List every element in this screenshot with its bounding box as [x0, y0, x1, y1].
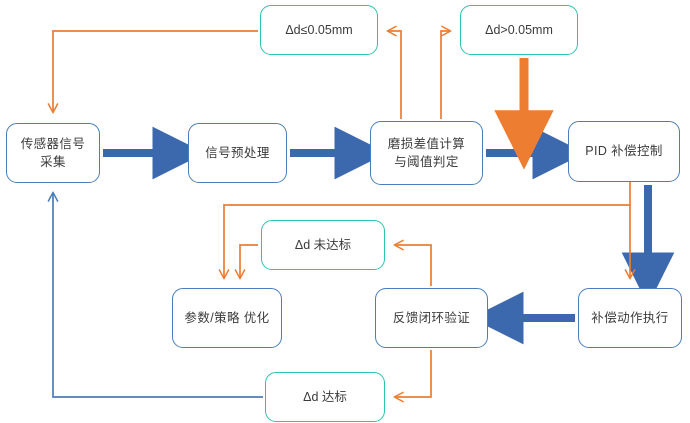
node-signal-preprocessing[interactable]: 信号预处理	[188, 123, 287, 183]
node-sensor-signal-acquisition[interactable]: 传感器信号 采集	[6, 123, 100, 183]
node-condition-delta-gt-005[interactable]: Δd>0.05mm	[460, 5, 578, 55]
flowchart-canvas: 传感器信号 采集 信号预处理 磨损差值计算 与阈值判定 PID 补偿控制 补偿动…	[0, 0, 690, 423]
edge-notmet-to-optimize	[240, 245, 258, 278]
node-label-line: 磨损差值计算	[388, 135, 465, 153]
node-pid-compensation-control[interactable]: PID 补偿控制	[568, 121, 680, 182]
node-condition-delta-met[interactable]: Δd 达标	[265, 372, 385, 422]
node-label-line: 与阈值判定	[394, 153, 459, 171]
node-label-line: 采集	[40, 153, 66, 171]
node-label-line: Δd 未达标	[295, 236, 351, 254]
node-label-line: 反馈闭环验证	[393, 309, 470, 327]
node-wear-diff-calculation[interactable]: 磨损差值计算 与阈值判定	[370, 121, 483, 185]
node-condition-delta-not-met[interactable]: Δd 未达标	[261, 220, 385, 270]
edge-calc-to-gt005	[441, 31, 450, 119]
node-compensation-action-execute[interactable]: 补偿动作执行	[578, 288, 682, 348]
node-label-line: 传感器信号	[21, 135, 86, 153]
edge-feedback-to-notmet	[395, 245, 431, 286]
node-label-line: Δd 达标	[303, 388, 347, 406]
node-condition-delta-le-005[interactable]: Δd≤0.05mm	[260, 5, 378, 55]
node-label-line: PID 补偿控制	[585, 142, 663, 160]
node-label-line: 补偿动作执行	[591, 309, 668, 327]
edge-le005-to-sensor	[53, 31, 258, 112]
node-label-line: Δd≤0.05mm	[285, 21, 352, 39]
node-feedback-closed-loop-verify[interactable]: 反馈闭环验证	[375, 288, 488, 348]
flowchart-edges	[0, 0, 690, 423]
edge-calc-to-le005	[388, 31, 401, 119]
node-label-line: Δd>0.05mm	[485, 21, 553, 39]
node-label-line: 信号预处理	[205, 144, 270, 162]
node-label-line: 参数/策略 优化	[184, 309, 269, 327]
edge-feedback-to-met	[395, 350, 431, 397]
node-parameter-strategy-optimization[interactable]: 参数/策略 优化	[172, 288, 282, 348]
